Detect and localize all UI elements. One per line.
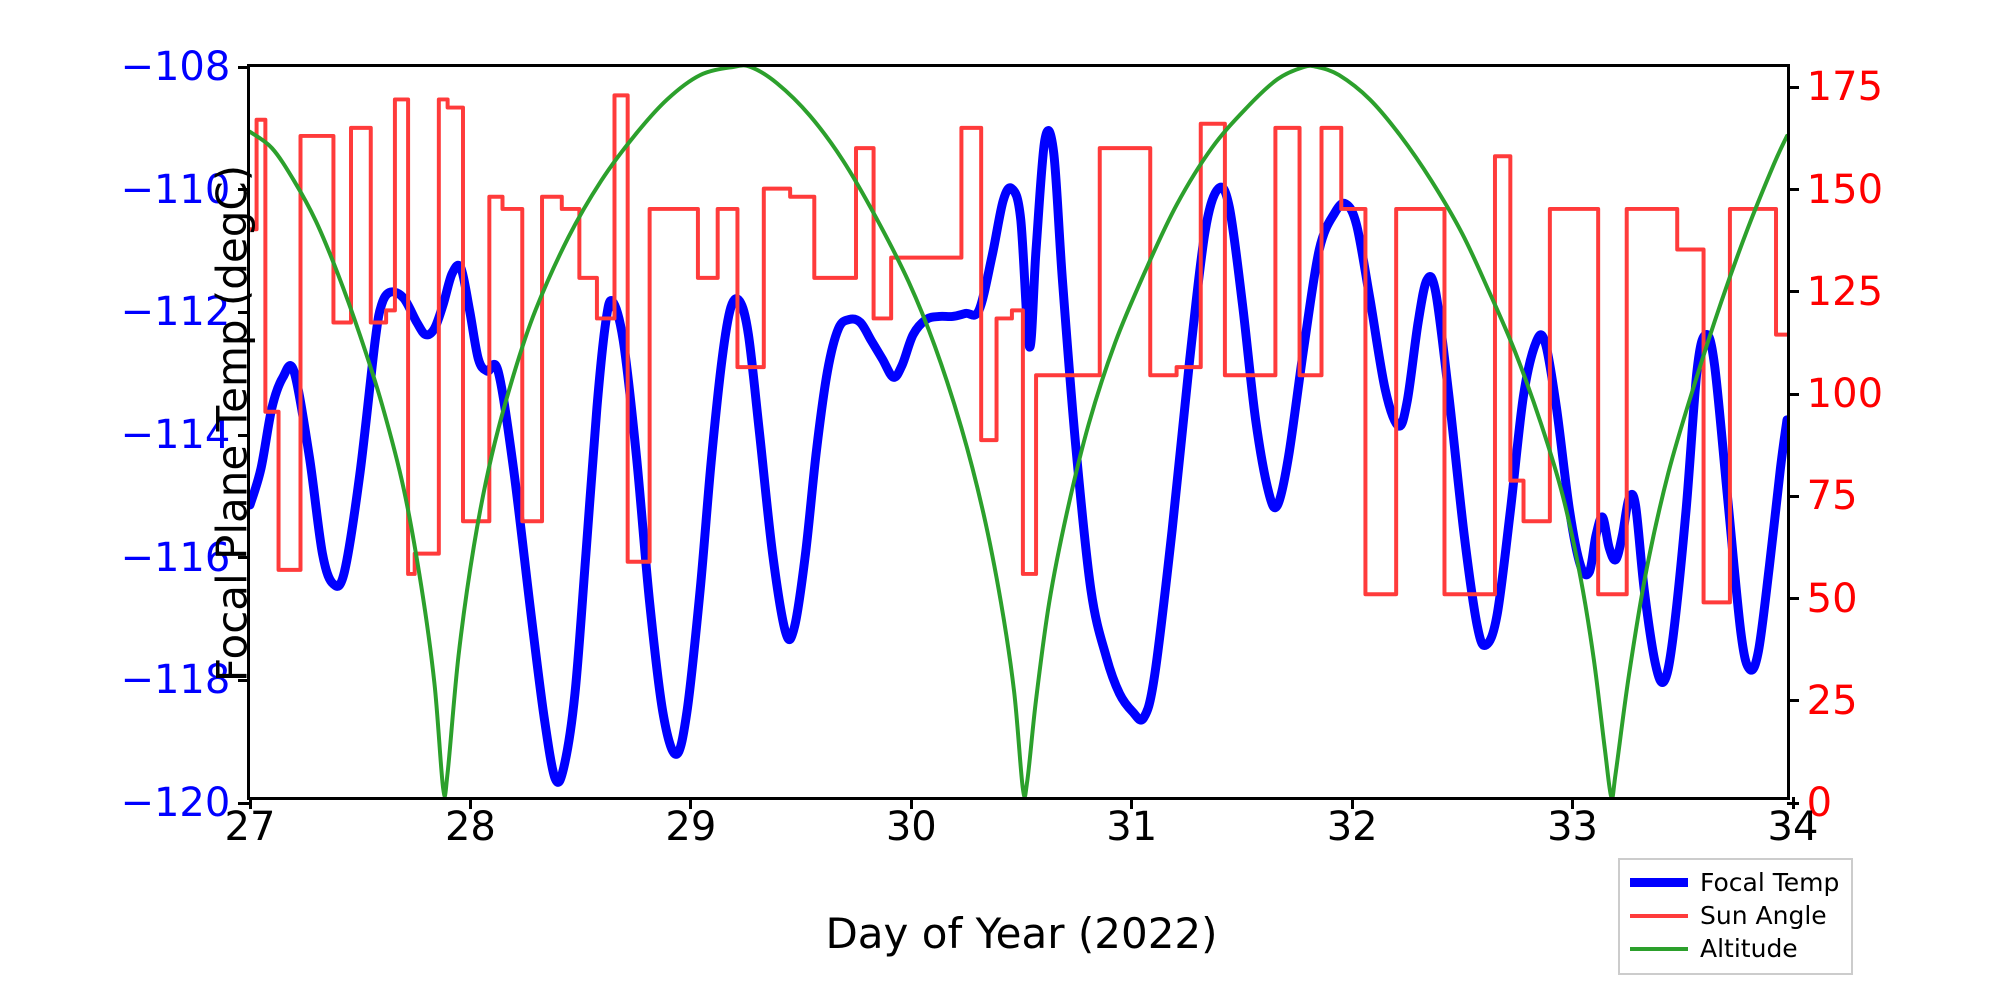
tick-mark [1787, 597, 1799, 600]
legend-swatch-icon [1630, 947, 1688, 951]
figure: −120−118−116−114−112−110−108 02550751001… [0, 0, 2000, 1000]
tick-mark [1787, 86, 1799, 89]
tick-mark [689, 797, 692, 809]
right-tick-label: 100 [1795, 374, 1883, 414]
chart-canvas [250, 67, 1787, 797]
legend-item-label: Altitude [1700, 934, 1798, 963]
series-line-focal-temp [250, 131, 1787, 783]
legend-item-label: Sun Angle [1700, 901, 1827, 930]
legend-swatch-icon [1630, 914, 1688, 918]
left-axis-title: Focal Plane Temp (degC) [208, 44, 257, 804]
legend-item-label: Focal Temp [1700, 868, 1839, 897]
legend-item[interactable]: Focal Temp [1630, 866, 1839, 899]
right-tick-label: 50 [1795, 579, 1858, 619]
tick-mark [1571, 797, 1574, 809]
plot-area: −120−118−116−114−112−110−108 02550751001… [247, 64, 1790, 800]
right-tick-label: 175 [1795, 67, 1883, 107]
chart-legend[interactable]: Focal TempSun AngleAltitude [1618, 858, 1853, 975]
tick-mark [910, 797, 913, 809]
right-tick-label: 25 [1795, 681, 1858, 721]
legend-item[interactable]: Sun Angle [1630, 899, 1839, 932]
tick-mark [1787, 699, 1799, 702]
right-tick-label: 150 [1795, 170, 1883, 210]
legend-swatch-icon [1630, 878, 1688, 887]
x-axis-title: Day of Year (2022) [250, 909, 1793, 958]
tick-mark [1130, 797, 1133, 809]
tick-mark [1787, 495, 1799, 498]
legend-item[interactable]: Altitude [1630, 932, 1839, 965]
tick-mark [1792, 797, 1795, 809]
tick-mark [1787, 393, 1799, 396]
right-tick-label: 125 [1795, 272, 1883, 312]
tick-mark [1787, 188, 1799, 191]
right-tick-label: 75 [1795, 476, 1858, 516]
tick-mark [1787, 290, 1799, 293]
tick-mark [469, 797, 472, 809]
tick-mark [1351, 797, 1354, 809]
